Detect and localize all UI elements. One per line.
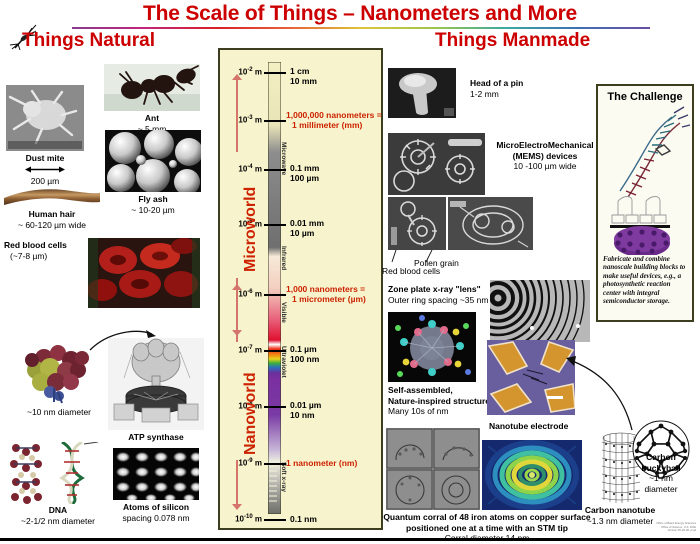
dust-mite-caption: Dust mite 200 µm <box>6 153 84 187</box>
microworld-arrow-up-icon <box>232 74 242 80</box>
fly-ash-size: ~ 10-20 µm <box>131 205 174 215</box>
item-fly-ash: Fly ash ~ 10-20 µm <box>105 130 201 215</box>
zone-plate-caption: Zone plate x-ray "lens" Outer ring spaci… <box>388 284 488 305</box>
rainbow-divider <box>72 27 650 29</box>
scale-tick <box>264 406 286 408</box>
nanoworld-axis-line <box>236 290 238 342</box>
pin-head-size: 1-2 mm <box>470 89 499 99</box>
scale-exponent-label: 10-9 m <box>218 458 262 468</box>
challenge-panel: The Challenge <box>596 84 694 322</box>
dna-image <box>6 442 110 504</box>
human-hair-caption: Human hair ~ 60-120 µm wide <box>4 209 100 230</box>
self-assembled-caption: Self-assembled, Nature-inspired structur… <box>388 385 490 417</box>
band-label-visible: Visible <box>280 302 287 323</box>
fly-ash-caption: Fly ash ~ 10-20 µm <box>105 194 201 215</box>
scale-tick <box>264 120 286 122</box>
scale-tick <box>264 294 286 296</box>
scale-tick <box>264 463 286 465</box>
red-blood-cells-image <box>88 238 200 308</box>
nanoworld-arrow-up-icon <box>232 284 242 290</box>
fly-ash-image <box>105 130 201 192</box>
quantum-corral-color-image <box>482 440 582 510</box>
zone-plate-name: Zone plate x-ray "lens" <box>388 284 481 294</box>
atp-synthase-caption: ATP synthase <box>108 432 204 443</box>
scale-tick <box>264 519 286 521</box>
scale-exponent-label: 10-10 m <box>218 514 262 524</box>
buckyball-caption: Carbon buckyball ~1 nm diameter <box>632 452 690 494</box>
scale-value-label: 0.1 nm <box>290 514 317 524</box>
zone-plate-image <box>490 280 590 342</box>
poster-root: The Scale of Things – Nanometers and Mor… <box>0 0 700 541</box>
silicon-atoms-caption: Atoms of silicon spacing 0.078 nm <box>113 502 199 523</box>
fly-ash-name: Fly ash <box>138 194 167 204</box>
mems-size: 10 -100 µm wide <box>513 161 576 171</box>
atp-synthase-name: ATP synthase <box>128 432 183 442</box>
dust-mite-image <box>6 85 84 151</box>
mems-image-bottom-left <box>388 197 446 250</box>
self-assembled-image <box>388 312 476 382</box>
electromagnetic-spectrum-bar <box>268 62 281 514</box>
quantum-corral-caption: Quantum corral of 48 iron atoms on coppe… <box>378 512 596 544</box>
pin-head-name: Head of a pin <box>470 78 523 88</box>
human-hair-image <box>4 184 100 206</box>
red-blood-cells-name: Red blood cells <box>4 240 67 250</box>
mems-name-line1: MicroElectroMechanical <box>496 140 593 150</box>
ant-image <box>104 64 200 111</box>
section-header-natural: Things Natural <box>22 30 155 52</box>
page-title: The Scale of Things – Nanometers and Mor… <box>70 2 650 26</box>
pin-head-caption: Head of a pin 1-2 mm <box>470 78 523 99</box>
scale-exponent-label: 10-3 m <box>218 115 262 125</box>
self-assembled-line1: Self-assembled, <box>388 385 453 395</box>
dust-mite-arrow-icon <box>6 165 84 176</box>
nanotube-electrode-image <box>487 340 575 415</box>
buckyball-size1: ~1 nm <box>649 473 673 483</box>
scale-value-label-red: 1,000,000 nanometers =1 millimeter (mm) <box>286 110 382 130</box>
buckyball-size2: diameter <box>644 484 677 494</box>
nanoworld-arrow-down-icon <box>232 504 242 510</box>
silicon-atoms-size: spacing 0.078 nm <box>122 513 189 523</box>
quantum-corral-line1: Quantum corral of 48 iron atoms on coppe… <box>383 512 590 522</box>
section-header-manmade: Things Manmade <box>435 30 590 52</box>
challenge-diagram <box>598 103 692 255</box>
red-blood-cells-caption: Red blood cells (~7-8 µm) <box>4 240 80 261</box>
credit-block: Office of Basic Energy Sciences Office o… <box>656 522 696 533</box>
item-dust-mite: Dust mite 200 µm <box>6 85 84 187</box>
challenge-pointer-arrow-icon <box>566 352 636 432</box>
scale-value-label-red: 1 nanometer (nm) <box>286 458 357 468</box>
quantum-corral-line3: Corral diameter 14 nm <box>445 533 530 543</box>
item-atp-synthase: ATP synthase <box>108 338 204 443</box>
item-ant: Ant ~ 5 mm <box>104 64 200 134</box>
nanoworld-axis-line <box>236 460 238 504</box>
scale-value-label: 0.01 µm10 nm <box>290 400 321 420</box>
mems-image-top <box>388 133 485 195</box>
microworld-label: Microworld <box>242 162 260 272</box>
scale-value-label: 1 cm10 mm <box>290 66 317 86</box>
scale-value-label: 0.1 mm100 µm <box>290 163 319 183</box>
dna-name: DNA <box>49 505 67 515</box>
protein-caption: ~10 nm diameter <box>14 407 104 418</box>
self-assembled-size: Many 10s of nm <box>388 406 448 416</box>
band-label-infrared: Infrared <box>280 246 287 270</box>
buckyball-line2: buckyball <box>641 463 680 473</box>
item-red-blood-cells: Red blood cells (~7-8 µm) <box>4 240 80 261</box>
item-human-hair: Human hair ~ 60-120 µm wide <box>4 184 100 230</box>
challenge-title: The Challenge <box>598 91 692 103</box>
dna-size: ~2-1/2 nm diameter <box>21 516 95 526</box>
item-silicon-atoms: Atoms of silicon spacing 0.078 nm <box>113 448 199 523</box>
scale-tick <box>264 350 286 352</box>
nanotube-electrode-caption: Nanotube electrode <box>489 421 568 432</box>
dust-mite-name: Dust mite <box>26 153 65 163</box>
silicon-atoms-name: Atoms of silicon <box>123 502 189 512</box>
microworld-axis-line <box>236 80 238 152</box>
protein-size: ~10 nm diameter <box>27 407 91 417</box>
scale-value-label: 0.1 µm100 nm <box>290 344 319 364</box>
scale-tick <box>264 72 286 74</box>
credit-line-3: Version 05-26-06, pmd <box>656 529 696 533</box>
carbon-nanotube-name: Carbon nanotube <box>585 505 655 515</box>
scale-value-label-red: 1,000 nanometers =1 micrometer (µm) <box>286 284 366 304</box>
scale-value-label: 0.01 mm10 µm <box>290 218 324 238</box>
mems-image-bottom-right <box>448 197 533 250</box>
ant-name: Ant <box>145 113 159 123</box>
item-dna: DNA ~2-1/2 nm diameter <box>6 442 110 526</box>
silicon-atoms-image <box>113 448 199 500</box>
red-blood-cells-size: (~7-8 µm) <box>10 251 47 261</box>
atp-synthase-image <box>108 338 204 430</box>
mems-name-line2: (MEMS) devices <box>513 151 578 161</box>
self-assembled-line2: Nature-inspired structure <box>388 396 490 406</box>
carbon-nanotube-caption: Carbon nanotube ~1.3 nm diameter <box>570 505 670 526</box>
scale-exponent-label: 10-6 m <box>218 289 262 299</box>
dna-caption: DNA ~2-1/2 nm diameter <box>6 505 110 526</box>
mems-caption: MicroElectroMechanical (MEMS) devices 10… <box>490 140 600 172</box>
rbc-note-label: Red blood cells <box>382 266 440 277</box>
zone-plate-size: Outer ring spacing ~35 nm <box>388 295 488 305</box>
scale-tick <box>264 169 286 171</box>
carbon-nanotube-size: ~1.3 nm diameter <box>587 516 653 526</box>
nanotube-electrode-name: Nanotube electrode <box>489 421 568 431</box>
challenge-body-text: Fabricate and combine nanoscale building… <box>598 255 692 305</box>
quantum-corral-line2: positioned one at a time with an STM tip <box>406 523 568 533</box>
buckyball-line1: Carbon <box>646 452 676 462</box>
pin-head-image <box>388 68 456 118</box>
scale-panel: Microwave Infrared Visible Ultraviolet S… <box>218 48 383 530</box>
nanoworld-label: Nanoworld <box>242 350 260 455</box>
quantum-corral-stm-image <box>386 428 480 510</box>
scale-tick <box>264 224 286 226</box>
human-hair-name: Human hair <box>29 209 76 219</box>
human-hair-size: ~ 60-120 µm wide <box>18 220 86 230</box>
